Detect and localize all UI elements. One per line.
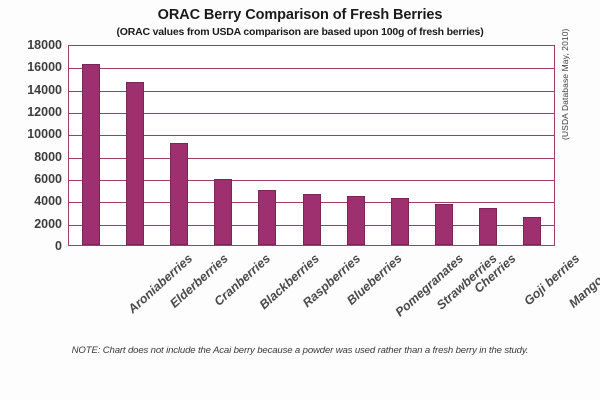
bar[interactable] [435,204,453,245]
bar-slot [466,46,510,245]
y-tick-label: 14000 [27,83,62,97]
bar[interactable] [391,198,409,245]
y-tick-label: 0 [55,239,62,253]
bar-slot [289,46,333,245]
bar-slot [113,46,157,245]
y-axis: 0200040006000800010000120001400016000180… [6,45,62,246]
y-tick-label: 2000 [34,217,62,231]
bar-slot [69,46,113,245]
y-tick-label: 4000 [34,194,62,208]
bar-series [69,46,554,245]
y-tick-label: 16000 [27,60,62,74]
chart-subtitle: (ORAC values from USDA comparison are ba… [0,26,600,38]
chart-title: ORAC Berry Comparison of Fresh Berries [0,7,600,23]
bar[interactable] [479,208,497,245]
bar-slot [510,46,554,245]
bar[interactable] [523,217,541,245]
bar[interactable] [126,82,144,245]
bar-slot [378,46,422,245]
y-tick-label: 8000 [34,150,62,164]
bar-slot [422,46,466,245]
y-tick-label: 18000 [27,38,62,52]
y-tick-label: 12000 [27,105,62,119]
bar[interactable] [214,179,232,245]
source-note: (USDA Database May, 2010) [560,29,570,140]
bar[interactable] [303,194,321,245]
orac-berry-bar-chart: ORAC Berry Comparison of Fresh Berries (… [0,0,600,400]
bar-slot [157,46,201,245]
plot-area [68,45,555,246]
bar-slot [334,46,378,245]
bar-slot [201,46,245,245]
bar[interactable] [82,64,100,245]
y-tick-label: 10000 [27,127,62,141]
bar-slot [245,46,289,245]
x-axis: AroniaberriesElderberriesCranberriesBlac… [68,246,555,341]
bar[interactable] [347,196,365,245]
y-tick-label: 6000 [34,172,62,186]
bar[interactable] [170,143,188,245]
bar[interactable] [258,190,276,245]
chart-footnote: NOTE: Chart does not include the Acai be… [0,345,600,356]
